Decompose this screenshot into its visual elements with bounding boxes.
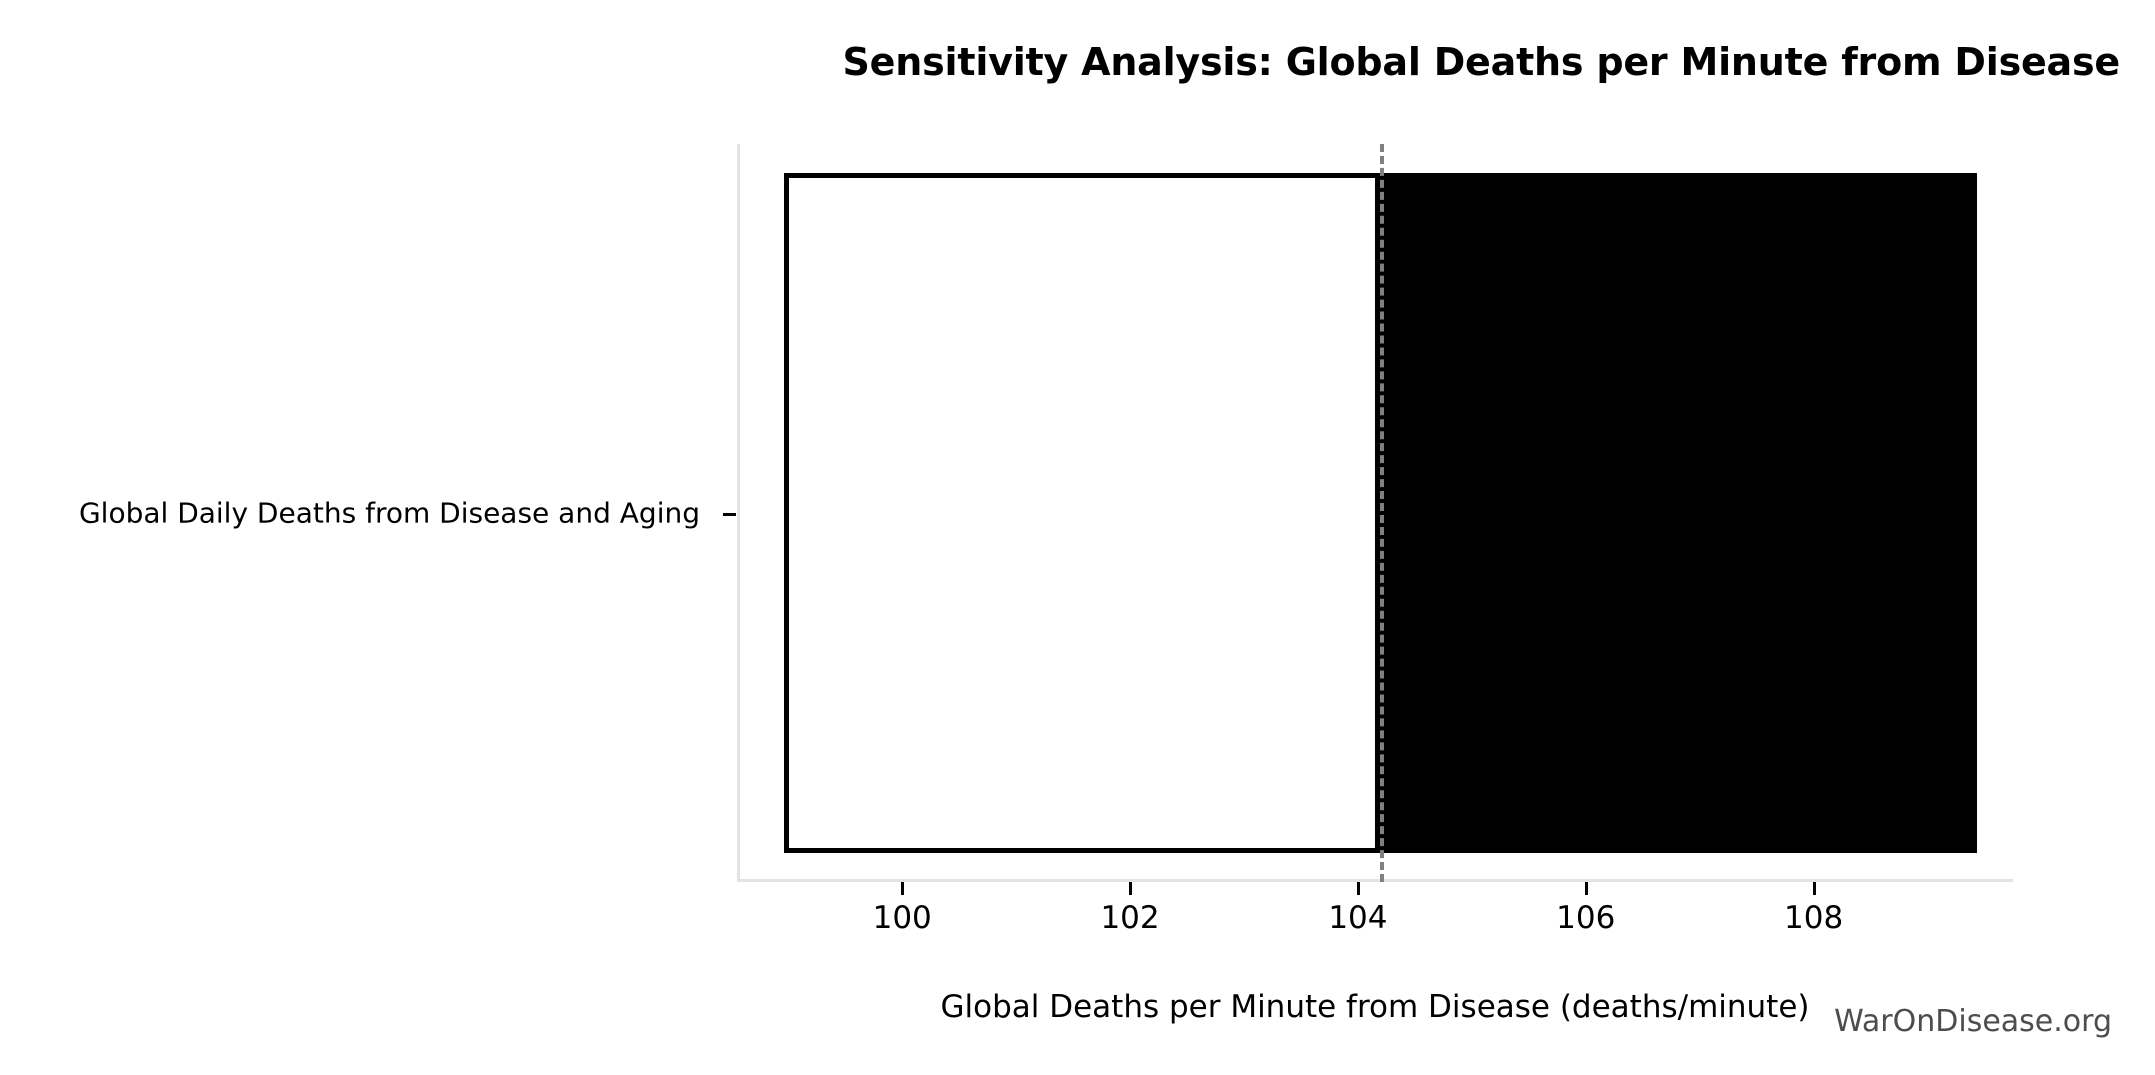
x-axis-tick-label: 100 [873, 900, 932, 936]
axis-spine-left [737, 144, 740, 882]
x-axis-tick-mark [1585, 882, 1588, 895]
x-axis-tick-mark [1813, 882, 1816, 895]
x-axis-tick-label: 108 [1784, 900, 1843, 936]
axis-spine-bottom [737, 879, 2013, 882]
bar-segment-low[interactable] [784, 173, 1380, 853]
watermark: WarOnDisease.org [1834, 1004, 2112, 1039]
x-axis-tick-label: 102 [1100, 900, 1159, 936]
y-axis-tick-label: Global Daily Deaths from Disease and Agi… [0, 497, 700, 530]
x-axis-tick-label: 106 [1556, 900, 1615, 936]
plot-area: 100102104106108 [737, 144, 2013, 882]
bar-segment-high[interactable] [1380, 173, 1977, 853]
x-axis-tick-mark [901, 882, 904, 895]
chart-figure: Sensitivity Analysis: Global Deaths per … [0, 0, 2155, 1075]
x-axis-tick-label: 104 [1328, 900, 1387, 936]
baseline-reference-line [1380, 144, 1384, 882]
x-axis-tick-mark [1129, 882, 1132, 895]
x-axis-tick-mark [1357, 882, 1360, 895]
x-axis-label: Global Deaths per Minute from Disease (d… [737, 989, 2013, 1025]
chart-title: Sensitivity Analysis: Global Deaths per … [0, 40, 2120, 84]
y-axis-tick-mark [723, 513, 736, 516]
